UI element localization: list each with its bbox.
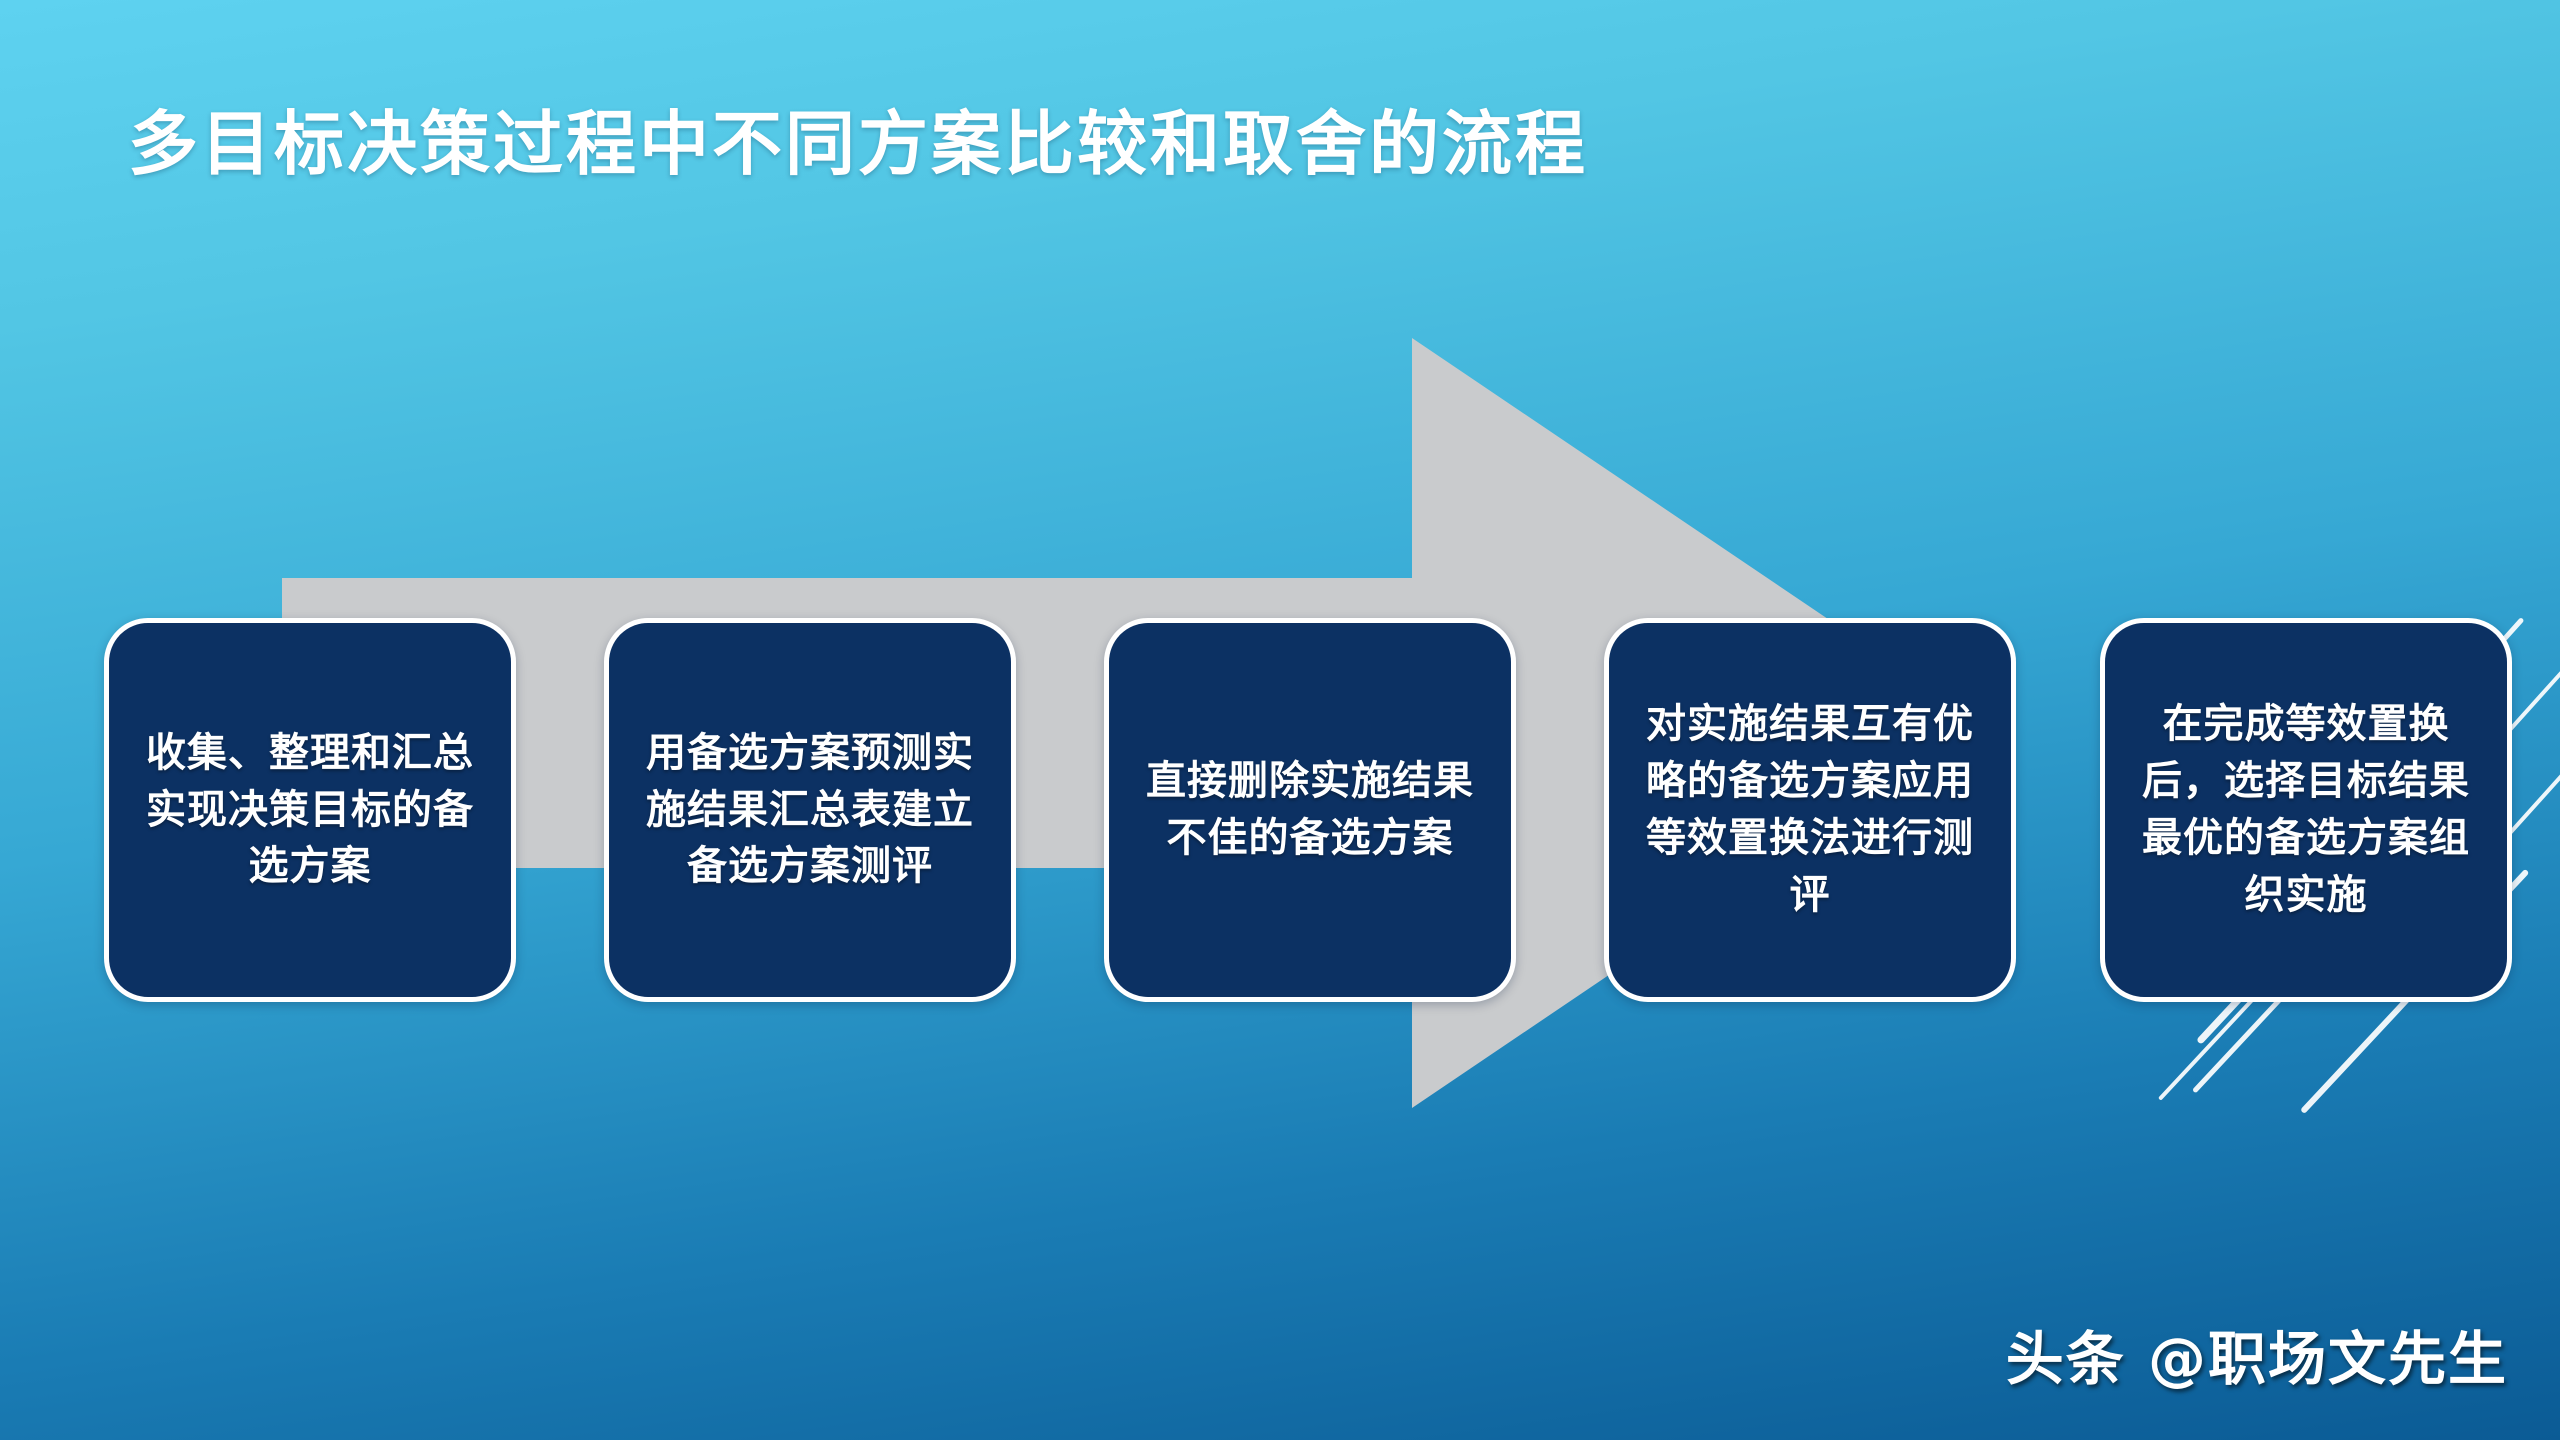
process-step-3-label: 直接删除实施结果不佳的备选方案 xyxy=(1131,753,1489,867)
process-step-4-label: 对实施结果互有优略的备选方案应用等效置换法进行测评 xyxy=(1631,696,1989,923)
process-step-3[interactable]: 直接删除实施结果不佳的备选方案 xyxy=(1104,618,1516,1002)
process-step-2[interactable]: 用备选方案预测实施结果汇总表建立备选方案测评 xyxy=(604,618,1016,1002)
process-step-1[interactable]: 收集、整理和汇总实现决策目标的备选方案 xyxy=(104,618,516,1002)
process-step-5-label: 在完成等效置换后，选择目标结果最优的备选方案组织实施 xyxy=(2127,696,2485,923)
process-step-4[interactable]: 对实施结果互有优略的备选方案应用等效置换法进行测评 xyxy=(1604,618,2016,1002)
watermark: 头条 @职场文先生 xyxy=(2006,1312,2508,1396)
process-step-5[interactable]: 在完成等效置换后，选择目标结果最优的备选方案组织实施 xyxy=(2100,618,2512,1002)
process-step-1-label: 收集、整理和汇总实现决策目标的备选方案 xyxy=(131,725,489,895)
page-title: 多目标决策过程中不同方案比较和取舍的流程 xyxy=(128,108,2228,182)
slide-canvas: 多目标决策过程中不同方案比较和取舍的流程 收集、整理和汇总实现决策目标的备选方案… xyxy=(0,0,2560,1440)
process-step-2-label: 用备选方案预测实施结果汇总表建立备选方案测评 xyxy=(631,725,989,895)
